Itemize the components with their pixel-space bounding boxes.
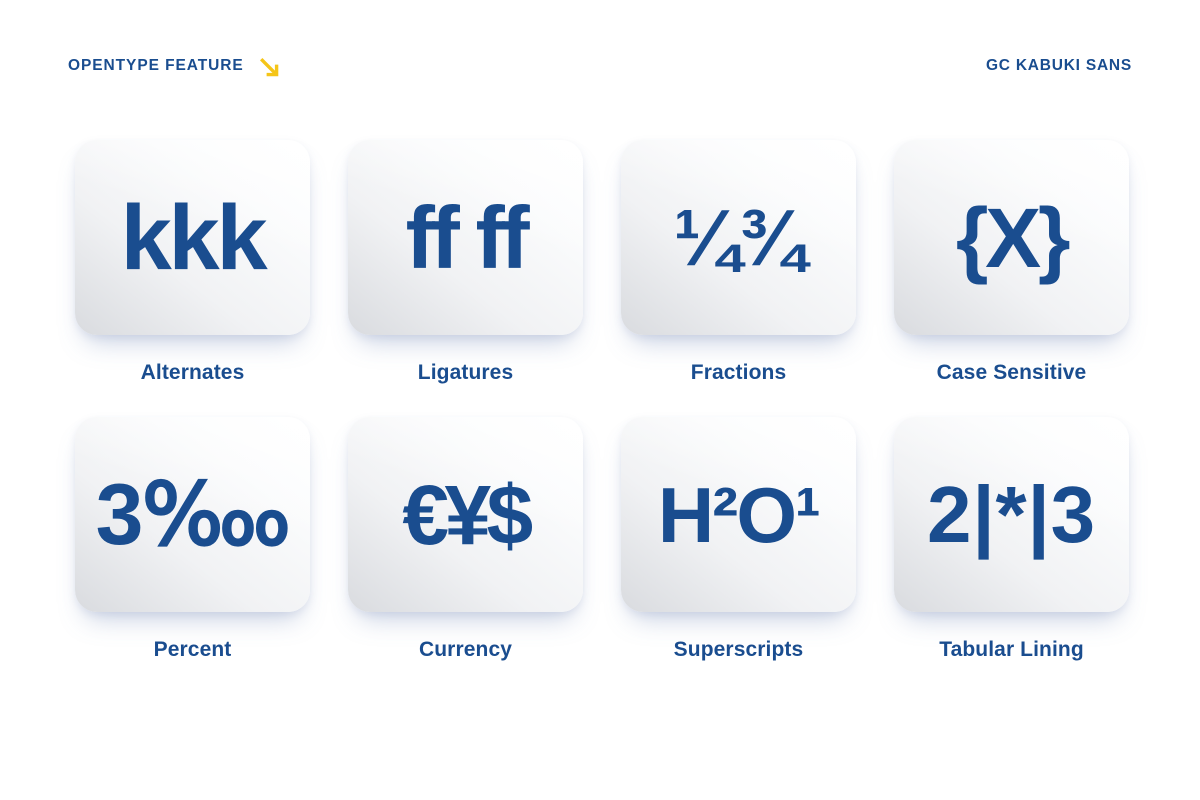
- glyph-card-alternates[interactable]: kkk: [75, 140, 310, 335]
- arrow-down-right-icon: [258, 56, 280, 78]
- glyph-card-superscripts[interactable]: H²O¹: [621, 417, 856, 612]
- feature-caption-ligatures: Ligatures: [418, 361, 513, 385]
- feature-caption-fractions: Fractions: [691, 361, 786, 385]
- page-header: OPENTYPE FEATURE GC KABUKI SANS: [68, 52, 1132, 80]
- font-specimen-page: OPENTYPE FEATURE GC KABUKI SANS kkk Alte…: [0, 0, 1200, 800]
- feature-cell-superscripts: H²O¹ Superscripts: [621, 417, 856, 662]
- feature-caption-currency: Currency: [419, 638, 512, 662]
- glyph-card-percent[interactable]: 3‱: [75, 417, 310, 612]
- feature-caption-tabular-lining: Tabular Lining: [939, 638, 1084, 662]
- glyph-card-ligatures[interactable]: ff ff: [348, 140, 583, 335]
- feature-caption-alternates: Alternates: [141, 361, 245, 385]
- glyph-sample-case-sensitive: {X}: [956, 196, 1067, 280]
- feature-caption-superscripts: Superscripts: [674, 638, 804, 662]
- eyebrow-label: OPENTYPE FEATURE: [68, 57, 244, 75]
- glyph-sample-percent: 3‱: [96, 472, 290, 558]
- glyph-card-currency[interactable]: €¥$: [348, 417, 583, 612]
- feature-caption-percent: Percent: [154, 638, 232, 662]
- feature-cell-ligatures: ff ff Ligatures: [348, 140, 583, 385]
- typeface-name-label: GC KABUKI SANS: [986, 57, 1132, 75]
- feature-cell-currency: €¥$ Currency: [348, 417, 583, 662]
- glyph-sample-fractions: ¼¾: [673, 198, 803, 278]
- feature-cell-tabular-lining: 2|*|3 Tabular Lining: [894, 417, 1129, 662]
- glyph-sample-superscripts: H²O¹: [658, 476, 819, 554]
- header-left-group: OPENTYPE FEATURE: [68, 54, 280, 78]
- glyph-card-fractions[interactable]: ¼¾: [621, 140, 856, 335]
- feature-cell-fractions: ¼¾ Fractions: [621, 140, 856, 385]
- feature-card-grid: kkk Alternates ff ff Ligatures ¼¾ Fracti…: [75, 140, 1127, 694]
- feature-row-bottom: 3‱ Percent €¥$ Currency H²O¹ Superscript…: [75, 417, 1127, 662]
- feature-row-top: kkk Alternates ff ff Ligatures ¼¾ Fracti…: [75, 140, 1127, 385]
- feature-caption-case-sensitive: Case Sensitive: [937, 361, 1087, 385]
- feature-cell-alternates: kkk Alternates: [75, 140, 310, 385]
- glyph-sample-tabular-lining: 2|*|3: [927, 475, 1096, 555]
- feature-cell-case-sensitive: {X} Case Sensitive: [894, 140, 1129, 385]
- glyph-sample-currency: €¥$: [402, 473, 528, 557]
- feature-cell-percent: 3‱ Percent: [75, 417, 310, 662]
- glyph-card-tabular-lining[interactable]: 2|*|3: [894, 417, 1129, 612]
- glyph-card-case-sensitive[interactable]: {X}: [894, 140, 1129, 335]
- glyph-sample-alternates: kkk: [121, 192, 265, 284]
- glyph-sample-ligatures: ff ff: [406, 194, 526, 282]
